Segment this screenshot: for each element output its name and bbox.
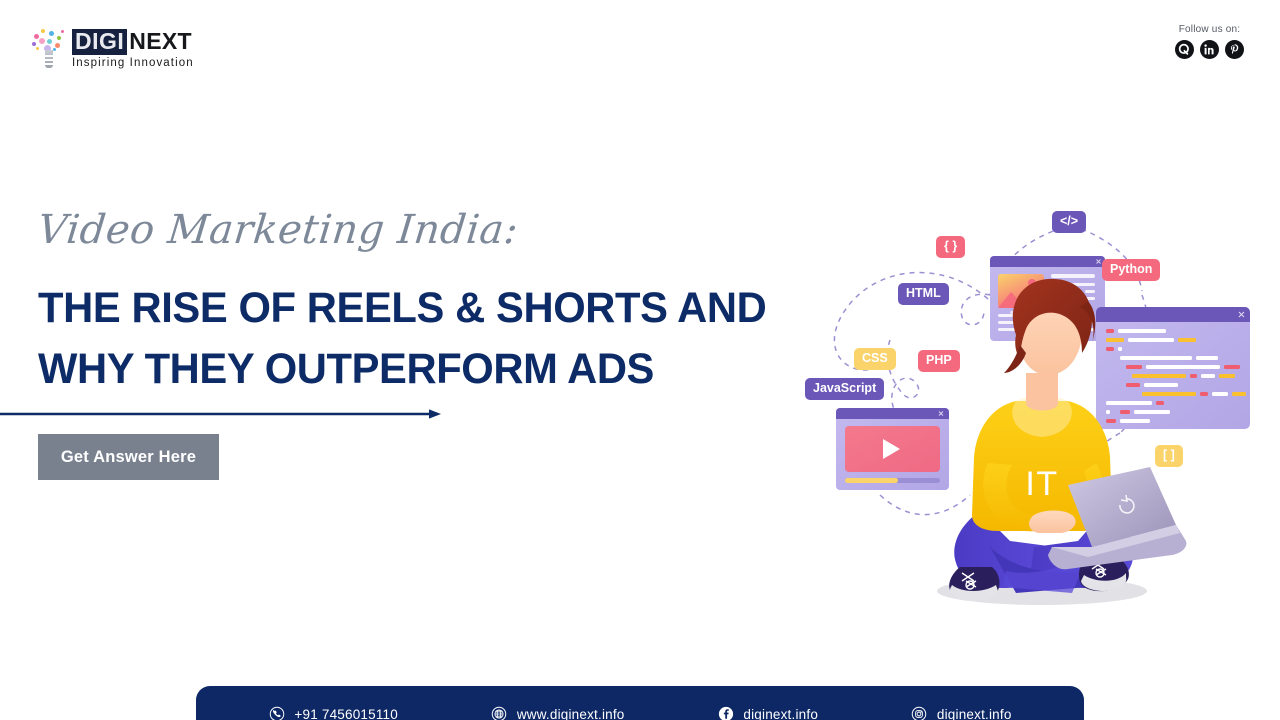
it-developer-illustration: IT </> { } Python HTML CSS PHP JavaScrip… <box>820 195 1270 625</box>
css-tag: CSS <box>854 348 896 370</box>
footer-website[interactable]: www.diginext.info <box>491 706 625 720</box>
logo-tagline: Inspiring Innovation <box>72 58 194 70</box>
code-editor-window <box>1096 307 1250 429</box>
footer-instagram-text: diginext.info <box>937 707 1012 720</box>
html-tag: HTML <box>898 283 949 305</box>
logo-next-text: NEXT <box>127 30 192 53</box>
quora-icon[interactable] <box>1175 40 1194 59</box>
brackets-tag: [ ] <box>1155 445 1183 467</box>
video-player-window <box>836 408 949 490</box>
linkedin-icon[interactable] <box>1200 40 1219 59</box>
braces-tag: { } <box>936 236 965 258</box>
brand-logo[interactable]: DIGI NEXT Inspiring Innovation <box>32 28 194 70</box>
instagram-icon <box>911 706 928 720</box>
arrow-divider <box>0 408 446 420</box>
logo-digi-text: DIGI <box>72 29 127 55</box>
footer-instagram[interactable]: diginext.info <box>911 706 1012 720</box>
follow-us-block: Follow us on: <box>1175 24 1244 59</box>
poster-canvas: DIGI NEXT Inspiring Innovation Follow us… <box>0 0 1280 720</box>
footer-phone[interactable]: +91 7456015110 <box>268 706 398 720</box>
javascript-tag: JavaScript <box>805 378 884 400</box>
left-shoe <box>949 567 999 601</box>
pinterest-icon[interactable] <box>1225 40 1244 59</box>
contact-footer-bar: +91 7456015110 www.diginext.info diginex… <box>196 686 1084 720</box>
eyebrow-script-title: Video Marketing India: <box>36 207 521 253</box>
social-links <box>1175 40 1244 59</box>
python-tag: Python <box>1102 259 1160 281</box>
svg-text:IT: IT <box>1025 465 1058 503</box>
code-tag: </> <box>1052 211 1086 233</box>
footer-phone-text: +91 7456015110 <box>294 707 398 720</box>
footer-website-text: www.diginext.info <box>517 707 625 720</box>
php-tag: PHP <box>918 350 960 372</box>
globe-icon <box>491 706 508 720</box>
follow-us-label: Follow us on: <box>1175 24 1244 35</box>
page-title: THE RISE OF REELS & SHORTS AND WHY THEY … <box>38 278 804 400</box>
footer-facebook-text: diginext.info <box>743 707 818 720</box>
get-answer-here-button[interactable]: Get Answer Here <box>38 434 219 480</box>
footer-facebook[interactable]: diginext.info <box>717 706 818 720</box>
lightbulb-icon <box>32 28 66 70</box>
phone-icon <box>268 706 285 720</box>
facebook-icon <box>717 706 734 720</box>
illustration-graphic: IT <box>820 195 1270 625</box>
